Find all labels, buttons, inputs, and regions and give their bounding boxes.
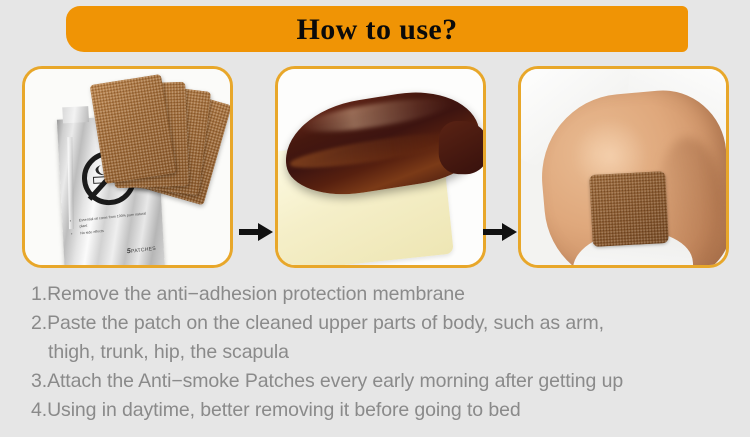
sachet-crease: [67, 137, 74, 229]
title-banner: How to use?: [66, 6, 688, 52]
panel-apply-to-arm: [518, 66, 729, 268]
sachet-tear-tab: [62, 106, 89, 123]
instruction-line: thigh, trunk, hip, the scapula: [31, 338, 731, 367]
instruction-line: 2.Paste the patch on the cleaned upper p…: [31, 309, 731, 338]
arrow-right-icon: [483, 221, 517, 243]
instruction-line: 3.Attach the Anti−smoke Patches every ea…: [31, 367, 731, 396]
patch-sheet: [90, 74, 177, 184]
step-panels-row: Essential oil come from 100% pure natura…: [0, 66, 750, 270]
gel-patch-tip: [438, 121, 483, 175]
panel-peel-membrane-image: [278, 69, 483, 265]
instruction-line: 4.Using in daytime, better removing it b…: [31, 396, 731, 425]
package-bullets: Essential oil come from 100% pure natura…: [74, 210, 154, 238]
panel-peel-membrane: [275, 66, 486, 268]
package-count: 5PATCHES: [126, 245, 156, 256]
arrow-right-icon: [239, 221, 273, 243]
instruction-line: 1.Remove the anti−adhesion protection me…: [31, 280, 731, 309]
panel-product-package: Essential oil come from 100% pure natura…: [22, 66, 233, 268]
panel-apply-to-arm-image: [521, 69, 726, 265]
panel-product-package-image: Essential oil come from 100% pure natura…: [25, 69, 230, 265]
page-title: How to use?: [296, 15, 457, 45]
applied-patch: [589, 171, 669, 247]
instructions-list: 1.Remove the anti−adhesion protection me…: [31, 280, 731, 425]
package-count-label: PATCHES: [131, 246, 157, 255]
